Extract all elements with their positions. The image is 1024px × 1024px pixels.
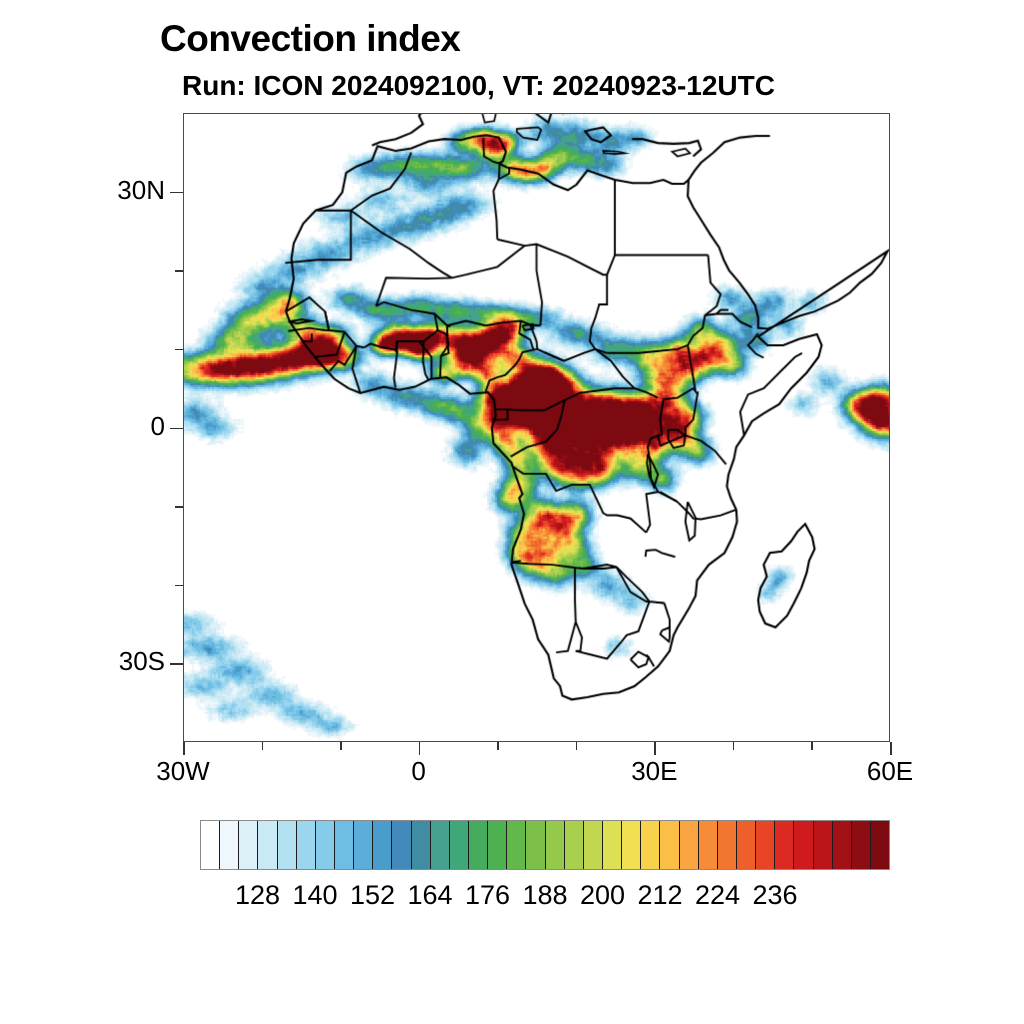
y-tick-minor (175, 270, 183, 272)
x-tick (419, 742, 421, 755)
colorbar-cell (641, 821, 660, 869)
colorbar-cell (258, 821, 277, 869)
colorbar-cell (699, 821, 718, 869)
colorbar-cell (431, 821, 450, 869)
x-tick-minor (733, 742, 735, 750)
y-tick-label: 0 (55, 411, 165, 442)
x-tick (183, 742, 185, 755)
colorbar-cell (565, 821, 584, 869)
colorbar-cell (584, 821, 603, 869)
x-tick-minor (497, 742, 499, 750)
colorbar-tick-label: 236 (730, 880, 820, 911)
colorbar-cell (316, 821, 335, 869)
colorbar-cell (450, 821, 469, 869)
convection-index-map (184, 114, 889, 741)
x-tick-label: 0 (359, 756, 479, 787)
x-tick-minor (340, 742, 342, 750)
page-subtitle: Run: ICON 2024092100, VT: 20240923-12UTC (182, 70, 775, 102)
colorbar-cell (469, 821, 488, 869)
y-tick (170, 192, 183, 194)
colorbar-cell (737, 821, 756, 869)
colorbar-cell (833, 821, 852, 869)
y-tick-minor (175, 506, 183, 508)
colorbar-labels: 128140152164176188200212224236 (200, 880, 890, 916)
colorbar-cell (201, 821, 220, 869)
map-frame (183, 113, 890, 742)
y-tick (170, 663, 183, 665)
x-tick-minor (811, 742, 813, 750)
colorbar-cell (507, 821, 526, 869)
colorbar-cell (814, 821, 833, 869)
x-tick-minor (262, 742, 264, 750)
colorbar-cell (335, 821, 354, 869)
x-tick-label: 60E (830, 756, 950, 787)
colorbar-cell (680, 821, 699, 869)
colorbar-cell (775, 821, 794, 869)
colorbar-cell (546, 821, 565, 869)
y-tick-minor (175, 349, 183, 351)
x-tick (890, 742, 892, 755)
y-tick-label: 30N (55, 175, 165, 206)
colorbar-cell (220, 821, 239, 869)
colorbar-cell (392, 821, 411, 869)
x-tick-minor (576, 742, 578, 750)
y-tick-minor (175, 585, 183, 587)
colorbar (200, 820, 890, 870)
page-title: Convection index (160, 18, 460, 60)
colorbar-cell (852, 821, 871, 869)
colorbar-cell (622, 821, 641, 869)
colorbar-cell (871, 821, 889, 869)
colorbar-cell (373, 821, 392, 869)
colorbar-cell (756, 821, 775, 869)
colorbar-cell (412, 821, 431, 869)
colorbar-cell (526, 821, 545, 869)
colorbar-cell (354, 821, 373, 869)
x-tick-label: 30W (123, 756, 243, 787)
colorbar-cell (278, 821, 297, 869)
colorbar-cell (297, 821, 316, 869)
colorbar-cell (603, 821, 622, 869)
y-tick (170, 428, 183, 430)
colorbar-cell (488, 821, 507, 869)
colorbar-cell (794, 821, 813, 869)
colorbar-cell (239, 821, 258, 869)
colorbar-cell (718, 821, 737, 869)
x-tick (654, 742, 656, 755)
y-tick-label: 30S (55, 646, 165, 677)
x-tick-label: 30E (594, 756, 714, 787)
colorbar-cell (660, 821, 679, 869)
